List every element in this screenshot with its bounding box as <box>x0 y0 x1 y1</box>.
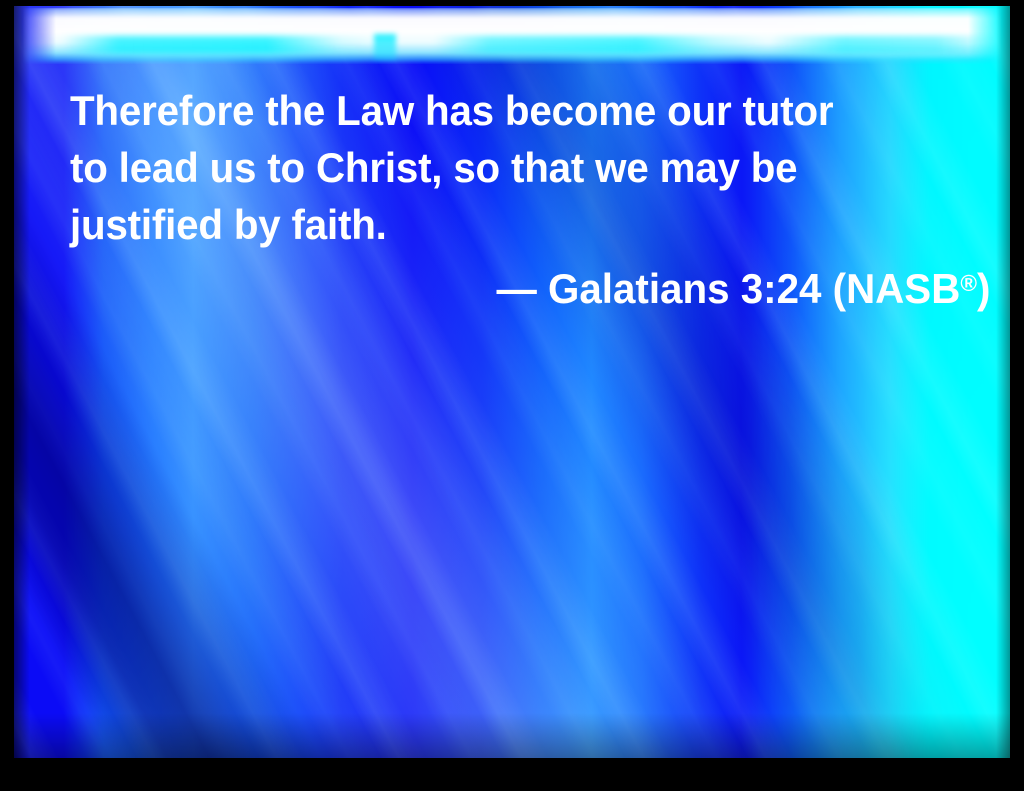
verse-line-3: justified by faith. <box>70 196 963 253</box>
attribution-closing-paren: ) <box>977 265 990 312</box>
attribution-dash: — <box>496 265 536 312</box>
verse-text-block: Therefore the Law has become our tutor t… <box>70 82 1000 319</box>
slide-frame: Therefore the Law has become our tutor t… <box>0 0 1024 791</box>
glow-band-cyan-streaks <box>62 36 992 54</box>
attribution-reference: Galatians 3:24 (NASB <box>548 265 960 312</box>
glow-band-cyan-nub <box>374 34 396 60</box>
top-white-glow-band <box>22 8 1002 64</box>
verse-attribution: — Galatians 3:24 (NASB®) <box>107 253 1000 319</box>
registered-trademark-icon: ® <box>960 270 977 296</box>
verse-line-2: to lead us to Christ, so that we may be <box>70 139 963 196</box>
verse-line-1: Therefore the Law has become our tutor <box>70 82 963 139</box>
scripture-slide-artwork: Therefore the Law has become our tutor t… <box>14 6 1010 758</box>
